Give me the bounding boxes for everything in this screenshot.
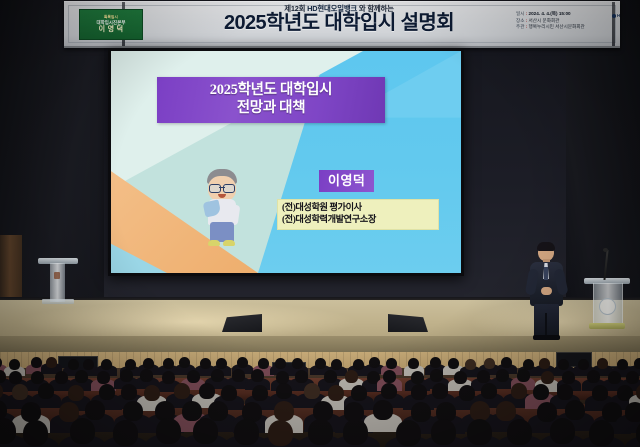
audience-head [539, 358, 550, 369]
audience-head [597, 358, 608, 369]
banner-center-text: 제12회 HD현대오일뱅크 와 함께하는 2025학년도 대학입시 설명회 [184, 5, 494, 34]
audience-head [221, 385, 237, 401]
audience-head [459, 385, 475, 401]
banner-logo-badge: 특목입시 대학입시진본부 이 영 덕 [79, 9, 143, 40]
slide-speaker-name-box: 이영덕 [319, 170, 374, 192]
audience-head [237, 357, 248, 368]
audience-head [369, 357, 380, 368]
podium-right [584, 278, 630, 330]
audience-head [46, 357, 57, 368]
audience-head [83, 359, 94, 370]
audience-head [59, 402, 79, 422]
audience-head [467, 419, 492, 445]
audience-head [501, 357, 512, 368]
presenter-tie [544, 267, 548, 280]
glasses-bridge [219, 187, 225, 188]
audience-head [431, 419, 456, 445]
audience-head [481, 383, 497, 399]
slide-surface: 2025학년도 대학입시 전망과 대책 [111, 51, 461, 273]
slide-title-line-1: 2025학년도 대학입시 [161, 82, 381, 100]
banner-rod-right [612, 2, 615, 47]
audience-head [578, 359, 589, 370]
audience-head [211, 369, 224, 382]
presenter-hands [541, 287, 552, 295]
audience-head [331, 359, 342, 370]
lectern-left-column [50, 263, 65, 302]
banner-sponsor-logo: HD현대오일뱅크 [612, 13, 620, 19]
glasses-icon [209, 184, 235, 191]
audience-head [617, 359, 628, 370]
audience-head [636, 384, 640, 400]
audience-head [477, 370, 490, 383]
audience-head [156, 418, 181, 444]
audience-head [517, 369, 530, 382]
podium-right-base [589, 323, 625, 329]
audience-head [315, 358, 326, 369]
audience-head [199, 383, 215, 399]
projection-screen: 2025학년도 대학입시 전망과 대책 [108, 48, 464, 276]
audience-head [101, 359, 112, 370]
audience-head [308, 419, 333, 445]
banner-info-host: 주관 : 행복누리시민 서산시문화회관 [516, 24, 608, 31]
audience-head [38, 383, 54, 399]
audience-head [626, 371, 639, 384]
logo-line-2: 대학입시진본부 [97, 21, 126, 25]
audience-head [562, 371, 575, 384]
slide-credential-2: (전)대성학력개발연구소장 [282, 214, 434, 226]
audience-head [21, 402, 41, 422]
seminar-photo: 특목입시 대학입시진본부 이 영 덕 제12회 HD현대오일뱅크 와 함께하는 … [0, 0, 640, 447]
podium-emblem-icon [599, 298, 616, 315]
audience-head [345, 370, 358, 383]
audience-head [163, 358, 174, 369]
audience-head [31, 357, 42, 368]
audience-head [144, 385, 160, 401]
banner-place-value: 서산시 문화회관 [529, 18, 560, 23]
glasses-lens-right [223, 184, 235, 193]
audience-head [373, 400, 393, 420]
audience-head [343, 419, 368, 445]
audience-head [430, 369, 443, 382]
presenter-shoes [533, 335, 560, 340]
audience-head [97, 371, 110, 384]
audience-head [9, 371, 22, 384]
audience-head [465, 359, 476, 370]
slide-speaker-name: 이영덕 [328, 173, 365, 188]
logo-line-3: 이 영 덕 [99, 26, 124, 33]
audience-head [511, 383, 527, 399]
glasses-lens-left [209, 184, 221, 193]
microphone-icon [603, 248, 608, 252]
slide-title-line-2: 전망과 대책 [161, 100, 381, 118]
audience-head [295, 370, 308, 383]
audience-head [496, 401, 516, 421]
audience-head [634, 358, 640, 369]
audience-head [541, 371, 554, 384]
audience-head [200, 358, 211, 369]
audience-head [507, 419, 532, 445]
audience-head [68, 385, 84, 401]
audience-head [140, 369, 153, 382]
audience-head [484, 358, 495, 369]
audience-head [411, 371, 424, 384]
caricature-pants [210, 222, 234, 242]
audience-head [182, 401, 202, 421]
audience-head [381, 383, 397, 399]
audience-head [351, 385, 367, 401]
audience-head [258, 358, 269, 369]
banner-date-label: 일시 [516, 11, 524, 16]
audience-head [113, 420, 138, 446]
audience-head [608, 371, 621, 384]
audience-head [187, 370, 200, 383]
banner-host-value: 행복누리시민 서산시문화회관 [529, 24, 585, 29]
audience-head [31, 371, 44, 384]
banner-title: 2025학년도 대학입시 설명회 [184, 13, 494, 34]
lectern-left [38, 258, 78, 304]
audience-head [12, 384, 28, 400]
banner-place-label: 장소 [516, 18, 524, 23]
banner-brand-text: HD현대오일뱅크 [617, 13, 620, 18]
audience-head [313, 401, 333, 421]
audience-head [143, 358, 154, 369]
audience-head [216, 358, 227, 369]
audience-head [251, 369, 264, 382]
audience-head [268, 420, 293, 446]
audience-head [70, 418, 95, 444]
audience-head [550, 418, 575, 444]
presenter [525, 243, 567, 339]
audience-head [252, 385, 268, 401]
audience-head [274, 401, 294, 421]
audience-head [232, 369, 245, 382]
presenter-hair [537, 242, 555, 251]
audience-head [557, 384, 573, 400]
banner-info-block: 일시 : 2024. 4. 4.(목) 15:00 장소 : 서산시 문화회관 … [516, 11, 608, 31]
lectern-left-base [42, 299, 74, 304]
audience-head [55, 371, 68, 384]
event-banner: 특목입시 대학입시진본부 이 영 덕 제12회 HD현대오일뱅크 와 함께하는 … [64, 1, 620, 48]
audience-head [193, 418, 218, 444]
slide-credentials-box: (전)대성학원 평가이사 (전)대성학력개발연구소장 [277, 199, 439, 230]
banner-info-date: 일시 : 2024. 4. 4.(목) 15:00 [516, 11, 608, 18]
caricature-shoe-left [208, 240, 220, 246]
audience-head [23, 420, 48, 446]
audience-head [174, 383, 190, 399]
audience-head [328, 385, 344, 401]
audience-head [99, 384, 115, 400]
audience-head [208, 401, 228, 421]
audience-head [537, 402, 557, 422]
audience-head [396, 420, 421, 446]
audience-head [592, 385, 608, 401]
audience-head [85, 400, 105, 420]
audience-head [234, 419, 259, 445]
slide-title-box: 2025학년도 대학입시 전망과 대책 [157, 77, 385, 123]
audience-head [276, 383, 292, 399]
audience-head [523, 359, 534, 370]
audience-head [454, 371, 467, 384]
audience-head [383, 370, 396, 383]
audience-head [123, 401, 143, 421]
audience-head [324, 370, 337, 383]
audience-head [9, 359, 20, 370]
audience-head [353, 359, 364, 370]
audience-head [121, 384, 137, 400]
banner-host-label: 주관 [516, 24, 524, 29]
audience-head [565, 400, 585, 420]
banner-date-value: 2024. 4. 4.(목) 15:00 [529, 11, 571, 16]
audience-head [448, 358, 459, 369]
audience-head [558, 359, 569, 370]
audience-head [304, 383, 320, 399]
audience-head [533, 384, 549, 400]
audience-head [68, 359, 79, 370]
audience-head [120, 369, 133, 382]
caricature-shoe-right [223, 240, 235, 246]
audience-head [275, 358, 286, 369]
audience-head [292, 358, 303, 369]
sponsor-dot-icon [612, 14, 616, 18]
presenter-leg-split [545, 313, 547, 337]
audience-head [386, 358, 397, 369]
audience-head [432, 383, 448, 399]
audience-head [625, 402, 640, 422]
audience-head [589, 420, 614, 446]
caricature-icon [199, 169, 245, 251]
audience-head [430, 357, 441, 368]
slide-credential-1: (전)대성학원 평가이사 [282, 202, 434, 214]
lectern-left-badge [54, 272, 60, 279]
audience-head [496, 369, 509, 382]
audience-head [75, 370, 88, 383]
